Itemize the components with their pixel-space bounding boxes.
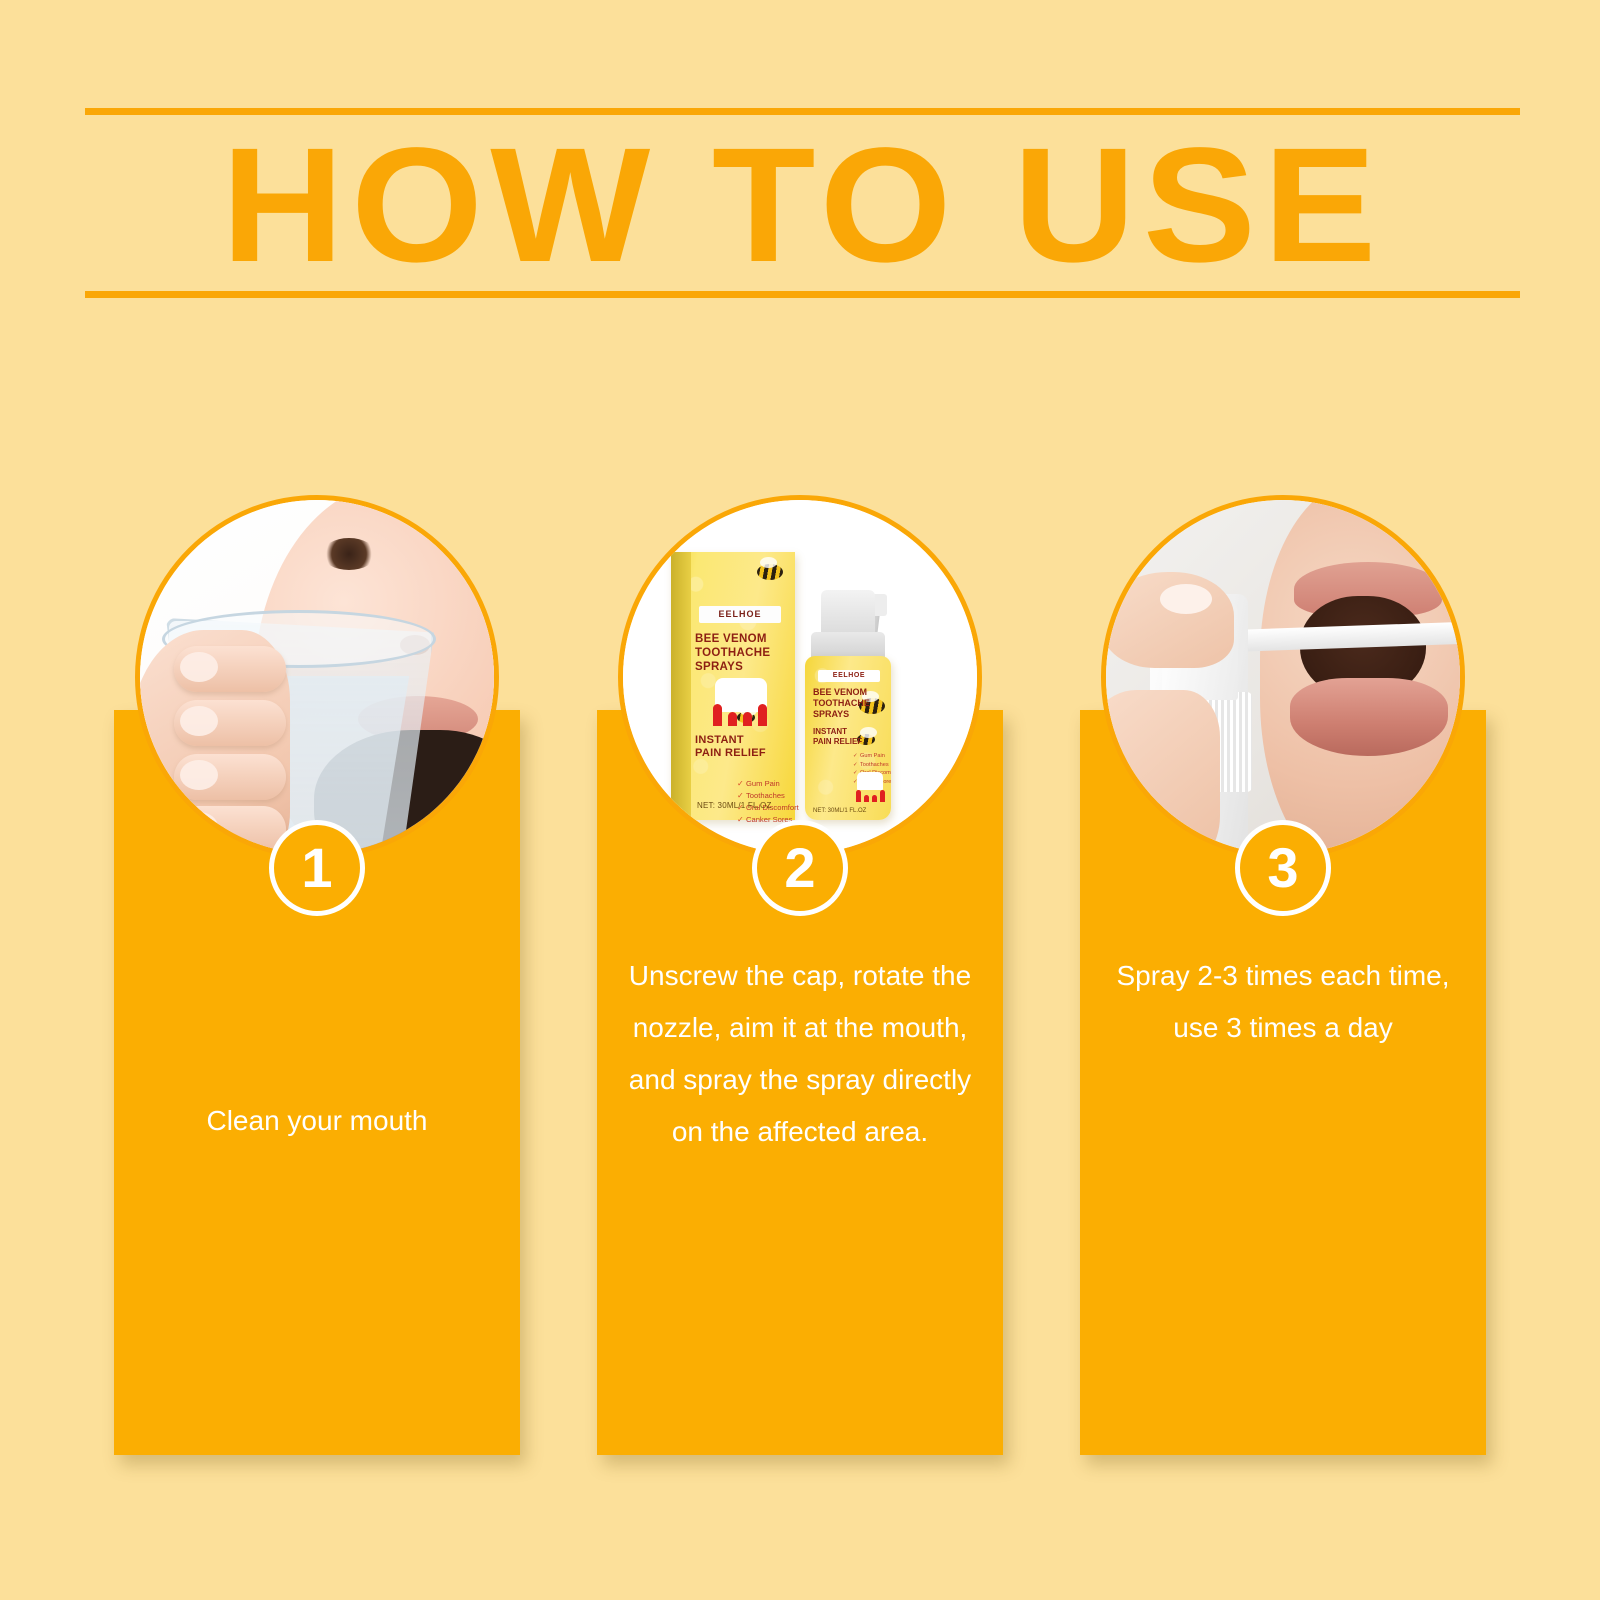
product-name-line-1: BEE VENOM: [813, 687, 885, 698]
thumbnail-shape: [1160, 584, 1212, 614]
header-banner: HOW TO USE: [85, 108, 1520, 298]
product-illustration: EELHOE BEE VENOM TOOTHACHE SPRAYS INSTAN…: [623, 500, 977, 854]
eye-shape: [322, 538, 376, 570]
product-box: EELHOE BEE VENOM TOOTHACHE SPRAYS INSTAN…: [671, 552, 795, 820]
list-item: Gum Pain: [853, 752, 885, 761]
product-claim-line-1: INSTANT: [695, 734, 766, 747]
step-number-badge-2: 2: [752, 820, 848, 916]
step-caption-1: Clean your mouth: [128, 1095, 506, 1147]
spraying-mouth-illustration: [1106, 500, 1460, 854]
net-weight-label: NET: 30ML/1 FL.OZ: [697, 801, 772, 810]
product-name: BEE VENOM TOOTHACHE SPRAYS: [813, 687, 885, 720]
product-name-line-2: TOOTHACHE: [695, 646, 787, 660]
drinking-water-illustration: [140, 500, 494, 854]
spray-bottle: EELHOE BEE VENOM TOOTHACHE SPRAYS INSTAN…: [799, 588, 897, 820]
product-claim: INSTANT PAIN RELIEF: [695, 734, 766, 760]
lower-lip-shape: [1290, 678, 1448, 756]
fingernail-shape: [180, 706, 218, 736]
step-caption-2: Unscrew the cap, rotate the nozzle, aim …: [611, 950, 989, 1158]
bottle-body: EELHOE BEE VENOM TOOTHACHE SPRAYS INSTAN…: [805, 656, 891, 820]
step-number-badge-1: 1: [269, 820, 365, 916]
page-title: HOW TO USE: [56, 122, 1548, 288]
product-name-line-2: TOOTHACHE: [813, 698, 885, 709]
fingernail-shape: [180, 812, 218, 842]
product-name-line-1: BEE VENOM: [695, 632, 787, 646]
step-card-3: 3 Spray 2-3 times each time, use 3 times…: [1080, 495, 1486, 1455]
product-name: BEE VENOM TOOTHACHE SPRAYS: [695, 632, 787, 674]
step-2-photo: EELHOE BEE VENOM TOOTHACHE SPRAYS INSTAN…: [618, 495, 982, 859]
brand-plate: EELHOE: [699, 606, 781, 623]
list-item: Toothaches: [853, 761, 885, 770]
product-claim-line-2: PAIN RELIEF: [813, 737, 885, 747]
step-caption-3: Spray 2-3 times each time, use 3 times a…: [1094, 950, 1472, 1054]
product-name-line-3: SPRAYS: [813, 709, 885, 720]
bee-icon: [757, 564, 783, 580]
product-claim: INSTANT PAIN RELIEF: [813, 727, 885, 747]
steps-row: 1 Clean your mouth EELHOE BEE VENOM TOOT…: [0, 495, 1600, 1455]
brand-name: EELHOE: [818, 670, 880, 682]
fingernail-shape: [180, 652, 218, 682]
tooth-icon: [857, 772, 883, 790]
gum-icon: [711, 704, 773, 726]
product-claim-line-2: PAIN RELIEF: [695, 747, 766, 760]
product-claim-line-1: INSTANT: [813, 727, 885, 737]
brand-name: EELHOE: [699, 606, 781, 623]
step-3-photo: [1101, 495, 1465, 859]
gum-icon: [855, 790, 885, 802]
box-spine: [671, 552, 691, 820]
hand-shape: [1101, 690, 1220, 859]
step-card-2: EELHOE BEE VENOM TOOTHACHE SPRAYS INSTAN…: [597, 495, 1003, 1455]
header-rule-bottom: [85, 291, 1520, 298]
net-weight-label: NET: 30ML/1 FL.OZ: [813, 808, 866, 814]
product-name-line-3: SPRAYS: [695, 660, 787, 674]
thumb-shape: [1102, 572, 1234, 668]
step-number-badge-3: 3: [1235, 820, 1331, 916]
step-1-photo: [135, 495, 499, 859]
fingernail-shape: [180, 760, 218, 790]
step-card-1: 1 Clean your mouth: [114, 495, 520, 1455]
